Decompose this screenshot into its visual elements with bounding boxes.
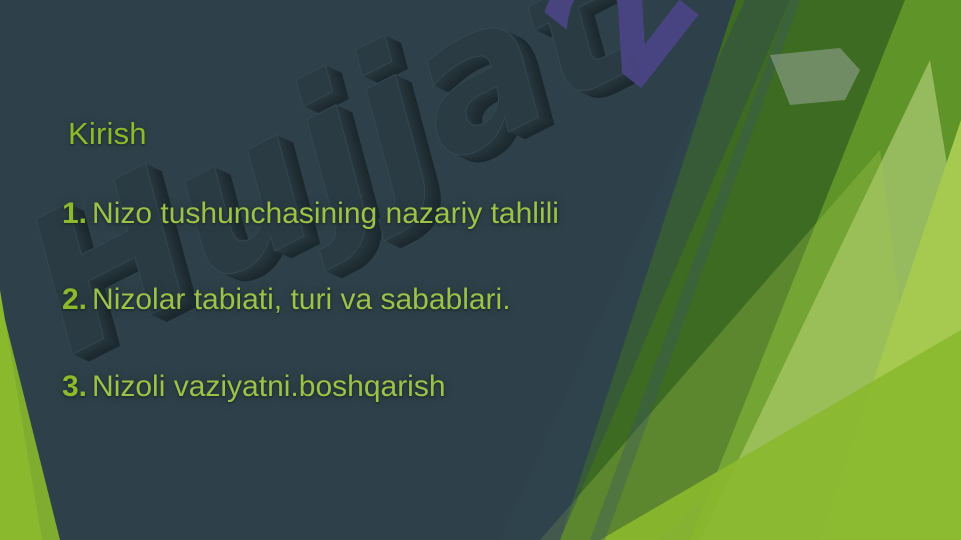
body-list-item-number: 2. (62, 283, 87, 316)
body-list-item: 2.Nizolar tabiati, turi va sabablari. (62, 282, 782, 317)
body-list-item-text: Nizolar tabiati, turi va sabablari. (92, 283, 511, 316)
body-list-item: 3.Nizoli vaziyatni.boshqarish (62, 369, 782, 404)
body-list-item-number: 3. (62, 370, 87, 403)
slide-title: Kirish (68, 116, 147, 152)
presentation-slide: Hujjat 24 Kirish 1.Nizo tushunchasining … (0, 0, 961, 540)
body-list-item: 1.Nizo tushunchasining nazariy tahlili (62, 196, 782, 231)
body-list-item-text: Nizoli vaziyatni.boshqarish (92, 370, 446, 403)
body-list-item-number: 1. (62, 197, 87, 230)
slide-content: Kirish 1.Nizo tushunchasining nazariy ta… (0, 0, 961, 540)
slide-body-list: 1.Nizo tushunchasining nazariy tahlili 2… (62, 196, 782, 404)
body-list-item-text: Nizo tushunchasining nazariy tahlili (92, 197, 559, 230)
